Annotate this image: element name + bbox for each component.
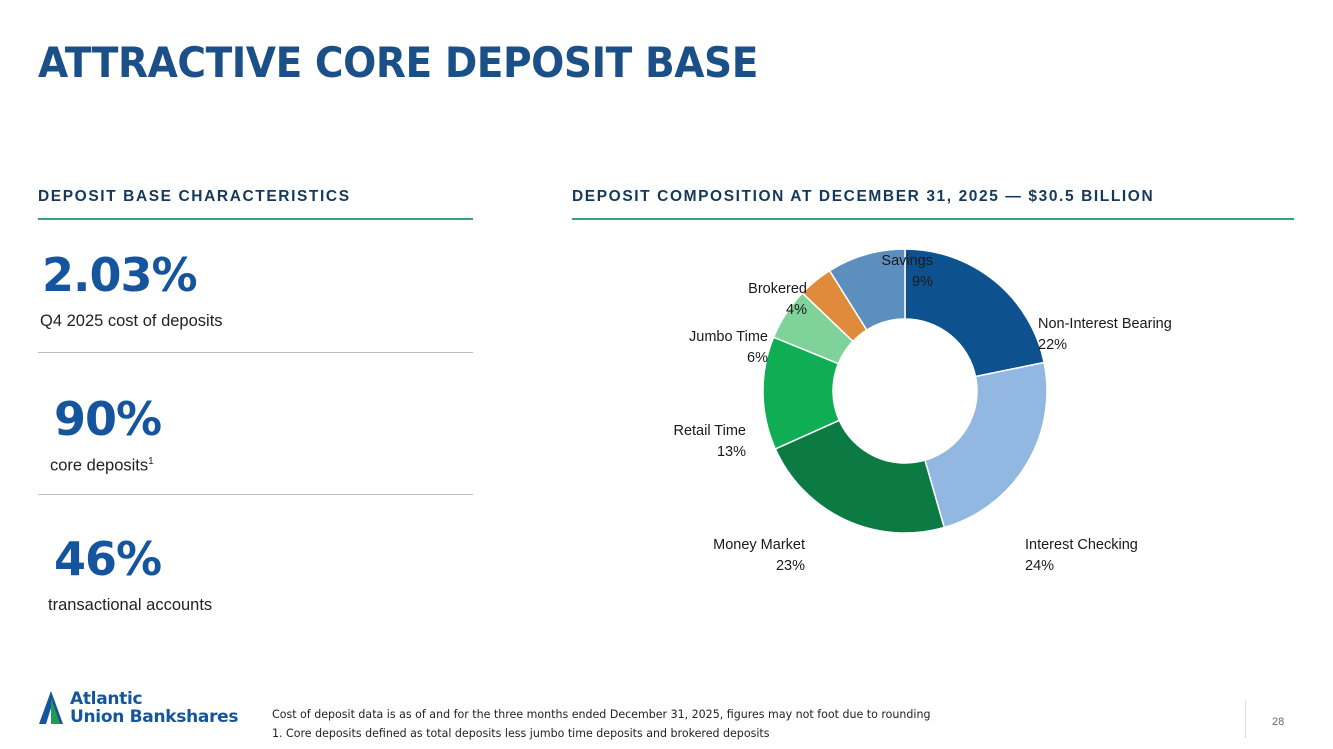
donut-label-value: 13% [572,442,746,463]
stat-divider-1 [38,352,473,353]
donut-label-value: 9% [572,272,933,293]
section-heading-left: DEPOSIT BASE CHARACTERISTICS [38,188,473,218]
donut-label-savings: Savings9% [572,251,933,293]
footnote-1: Cost of deposit data is as of and for th… [272,705,930,724]
logo-mark-icon [38,690,64,726]
heading-underline-right [572,218,1294,220]
section-heading-right: DEPOSIT COMPOSITION AT DECEMBER 31, 2025… [572,188,1294,218]
donut-label-name: Interest Checking [1025,537,1138,553]
logo-line-1: Atlantic [70,690,238,708]
donut-label-retail-time: Retail Time13% [572,421,746,463]
donut-label-money-market: Money Market23% [572,535,805,577]
donut-label-value: 24% [1025,556,1138,577]
donut-label-interest-checking: Interest Checking24% [1025,535,1138,577]
stat-transactional-accounts: 46% transactional accounts [38,532,212,615]
deposit-base-characteristics-section: DEPOSIT BASE CHARACTERISTICS [38,188,473,220]
stat-core-deposits: 90% core deposits1 [38,392,161,476]
page-number: 28 [1272,716,1284,728]
page-title: ATTRACTIVE CORE DEPOSIT BASE [38,38,758,87]
stat-value: 2.03% [42,248,223,302]
logo-line-2: Union Bankshares [70,708,238,726]
page-number-divider [1245,700,1246,738]
donut-label-non-interest-bearing: Non-Interest Bearing22% [1038,314,1172,356]
company-logo: Atlantic Union Bankshares [38,690,238,726]
footer-divider [0,676,1333,677]
logo-wordmark: Atlantic Union Bankshares [70,690,238,726]
stat-label: transactional accounts [48,596,212,615]
stat-label-text: core deposits [50,457,148,475]
stat-label: core deposits1 [50,456,161,476]
donut-label-name: Non-Interest Bearing [1038,316,1172,332]
stat-label: Q4 2025 cost of deposits [40,312,223,331]
footnote-marker: 1 [148,456,154,467]
donut-label-name: Savings [881,253,933,269]
stat-divider-2 [38,494,473,495]
donut-label-name: Money Market [713,537,805,553]
donut-label-value: 23% [572,556,805,577]
donut-label-value: 6% [572,348,768,369]
donut-label-value: 22% [1038,335,1172,356]
deposit-composition-donut-chart: Non-Interest Bearing22%Interest Checking… [572,236,1294,616]
donut-label-name: Jumbo Time [689,329,768,345]
footnote-2: 1. Core deposits defined as total deposi… [272,724,930,743]
stat-value: 90% [54,392,161,446]
deposit-composition-section: DEPOSIT COMPOSITION AT DECEMBER 31, 2025… [572,188,1294,220]
donut-label-name: Retail Time [673,423,746,439]
donut-label-value: 4% [572,300,807,321]
footnotes: Cost of deposit data is as of and for th… [272,705,930,743]
stat-cost-of-deposits: 2.03% Q4 2025 cost of deposits [38,248,223,331]
stat-value: 46% [54,532,212,586]
donut-label-jumbo-time: Jumbo Time6% [572,327,768,369]
heading-underline-left [38,218,473,220]
donut-segment [925,362,1047,527]
